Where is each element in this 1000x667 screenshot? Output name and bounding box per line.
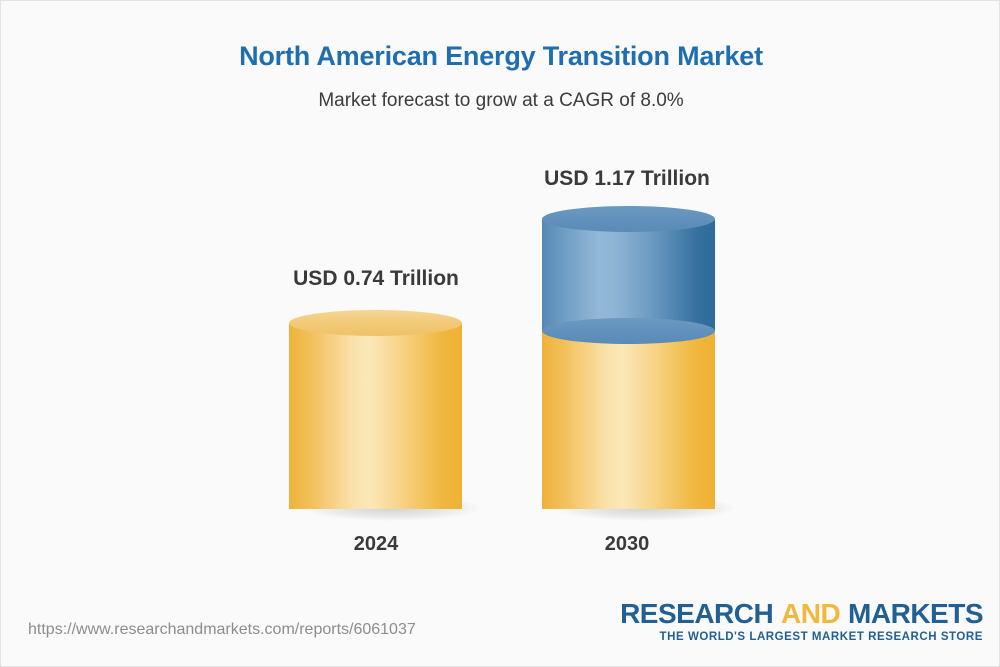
category-label-2030: 2030 (477, 533, 777, 556)
cylinder-2030-growth (542, 219, 715, 331)
cylinder-2024 (289, 323, 462, 509)
source-url[interactable]: https://www.researchandmarkets.com/repor… (28, 621, 416, 639)
logo-word-markets: MARKETS (848, 598, 983, 629)
cylinder-bottom-cap-2030-growth (542, 318, 715, 344)
cylinder-body-2030-growth (542, 219, 715, 331)
logo-word-and: AND (781, 598, 840, 629)
cylinder-top-cap-2024 (289, 310, 462, 336)
value-label-2030: USD 1.17 Trillion (477, 167, 777, 191)
logo-word-research: RESEARCH (620, 598, 773, 629)
researchandmarkets-logo[interactable]: RESEARCHANDMARKETS THE WORLD'S LARGEST M… (620, 599, 983, 643)
logo-wordmark: RESEARCHANDMARKETS (620, 599, 983, 628)
chart-canvas: North American Energy Transition Market … (0, 0, 1000, 667)
cylinder-body-2030-base (542, 331, 715, 509)
cylinder-top-cap-2030-growth (542, 206, 715, 232)
value-label-2024: USD 0.74 Trillion (226, 267, 526, 291)
logo-tagline: THE WORLD'S LARGEST MARKET RESEARCH STOR… (620, 631, 983, 643)
cylinder-2030-base (542, 331, 715, 509)
cylinder-body-2024-base (289, 323, 462, 509)
plot-area: USD 0.74 Trillion 2024 USD 1.17 Trillion (1, 1, 1000, 601)
